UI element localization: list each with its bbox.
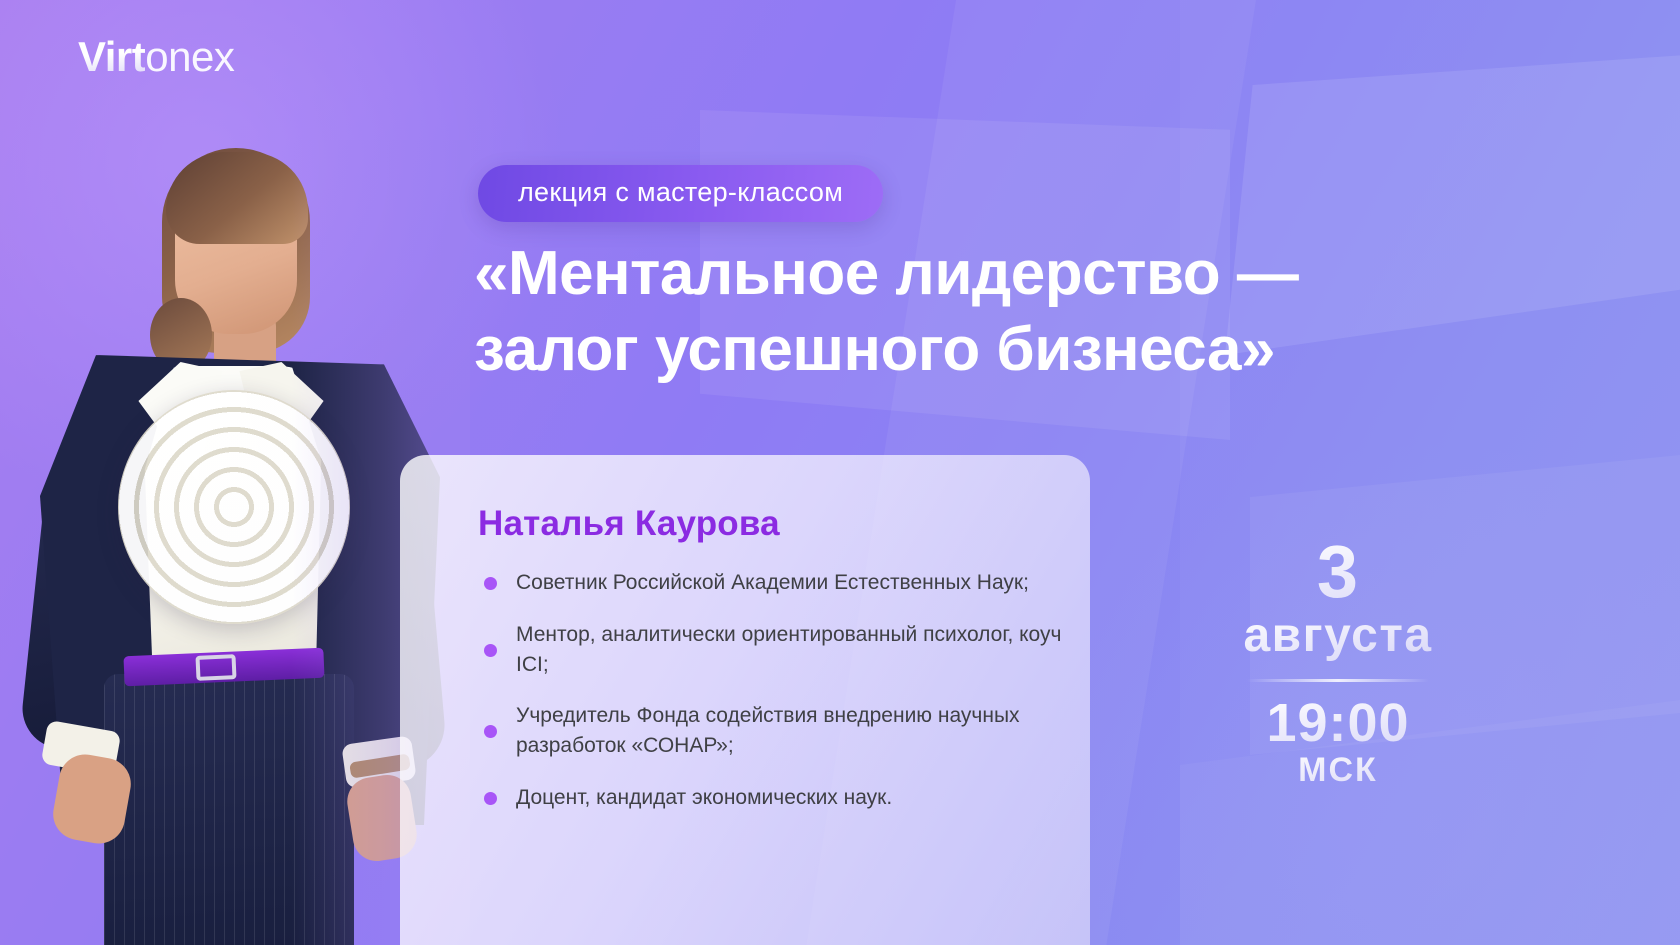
event-timezone: МСК [1188,753,1488,789]
list-item-label: Советник Российской Академии Естественны… [516,571,1029,594]
event-month: августа [1188,611,1488,661]
brand-logo-strong: Virt [78,33,145,80]
list-item: Ментор, аналитически ориентированный пси… [478,620,1078,680]
list-item-label: Ментор, аналитически ориентированный пси… [516,623,1061,676]
bullet-icon [484,577,497,590]
list-item: Учредитель Фонда содействия внедрению на… [478,701,1078,761]
list-item: Доцент, кандидат экономических наук. [478,783,1078,813]
event-time: 19:00 [1188,696,1488,751]
brand-logo-light: onex [145,33,234,80]
page-title: «Ментальное лидерство — залог успешного … [474,236,1484,387]
bullet-icon [484,725,497,738]
brand-logo[interactable]: Virtonex [78,36,234,78]
list-item-label: Учредитель Фонда содействия внедрению на… [516,704,1020,757]
event-day: 3 [1188,536,1488,609]
datetime-divider [1247,679,1429,682]
speaker-name: Наталья Каурова [478,503,780,545]
list-item-label: Доцент, кандидат экономических наук. [516,786,892,809]
promo-banner: Virtonex лекция с мастер-классом «Ментал… [0,0,1680,945]
event-type-badge: лекция с мастер-классом [478,165,883,222]
headline-line-1: «Ментальное лидерство — [474,236,1484,312]
headline-line-2: залог успешного бизнеса» [474,312,1484,388]
event-datetime: 3 августа 19:00 МСК [1188,536,1488,789]
bullet-icon [484,644,497,657]
background-band-b [1180,0,1680,945]
bullet-icon [484,792,497,805]
list-item: Советник Российской Академии Естественны… [478,568,1078,598]
speaker-credentials-list: Советник Российской Академии Естественны… [478,568,1078,813]
